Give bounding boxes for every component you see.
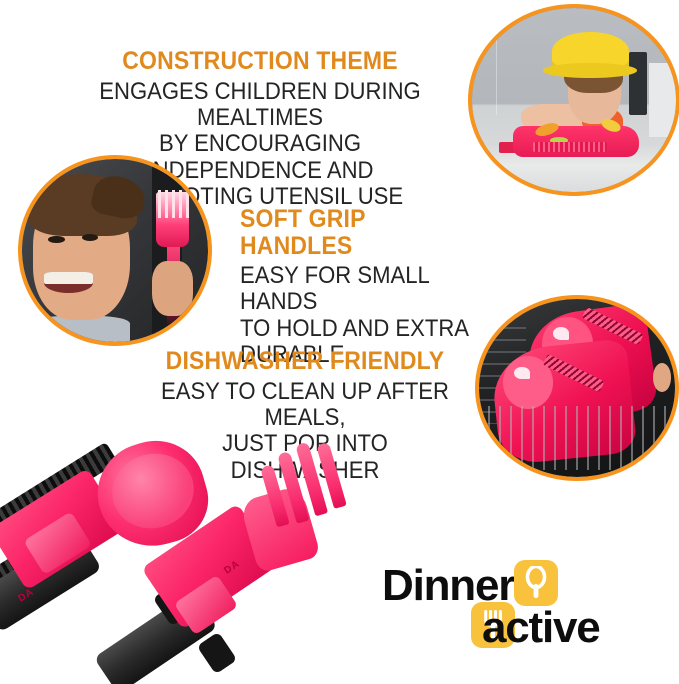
spoon-icon — [514, 560, 558, 606]
photo-bubble-construction-theme — [468, 4, 679, 196]
feature-heading-construction-theme: CONSTRUCTION THEME — [76, 48, 444, 75]
plate-tread-detail — [533, 142, 606, 151]
photo-bubble-dishwasher-friendly — [475, 295, 679, 481]
brand-logo: Dinner active — [382, 558, 672, 658]
cabinet-light — [649, 63, 676, 137]
infographic-canvas: CONSTRUCTION THEME ENGAGES CHILDREN DURI… — [0, 0, 679, 684]
child-smile — [44, 272, 92, 292]
hand-thumb — [653, 363, 671, 391]
dishwasher-rack-bottom — [479, 406, 675, 470]
spoon-glyph — [514, 560, 558, 606]
feature-block-soft-grip-handles: SOFT GRIP HANDLES EASY FOR SMALL HANDS T… — [240, 206, 490, 369]
cabinet-dark — [629, 52, 647, 115]
photo-bubble-soft-grip-handles — [18, 155, 212, 346]
feature-heading-soft-grip-handles: SOFT GRIP HANDLES — [240, 206, 470, 259]
scene-dishwasher-interior — [479, 299, 675, 477]
scene-kitchen-background — [472, 8, 676, 192]
feature-heading-dishwasher-friendly: DISHWASHER FRIENDLY — [153, 348, 457, 375]
child-hand — [152, 261, 193, 316]
fork-wheel-b — [197, 632, 238, 675]
child-shirt — [22, 316, 130, 342]
child-eye-left — [48, 236, 65, 243]
teeth — [44, 272, 92, 284]
utensil-back-highlight — [553, 327, 569, 339]
hard-hat-brim — [543, 63, 637, 78]
photo-soft-grip-handles — [22, 159, 208, 342]
scene-dark-background — [22, 159, 208, 342]
photo-dishwasher-friendly — [479, 299, 675, 477]
wall-edge — [496, 8, 497, 115]
photo-construction-theme — [472, 8, 676, 192]
utensil-front-highlight — [514, 367, 530, 379]
brand-word-active: active — [482, 606, 600, 650]
hero-product-photo: DA DA — [0, 440, 354, 684]
fork-tines — [156, 190, 189, 217]
